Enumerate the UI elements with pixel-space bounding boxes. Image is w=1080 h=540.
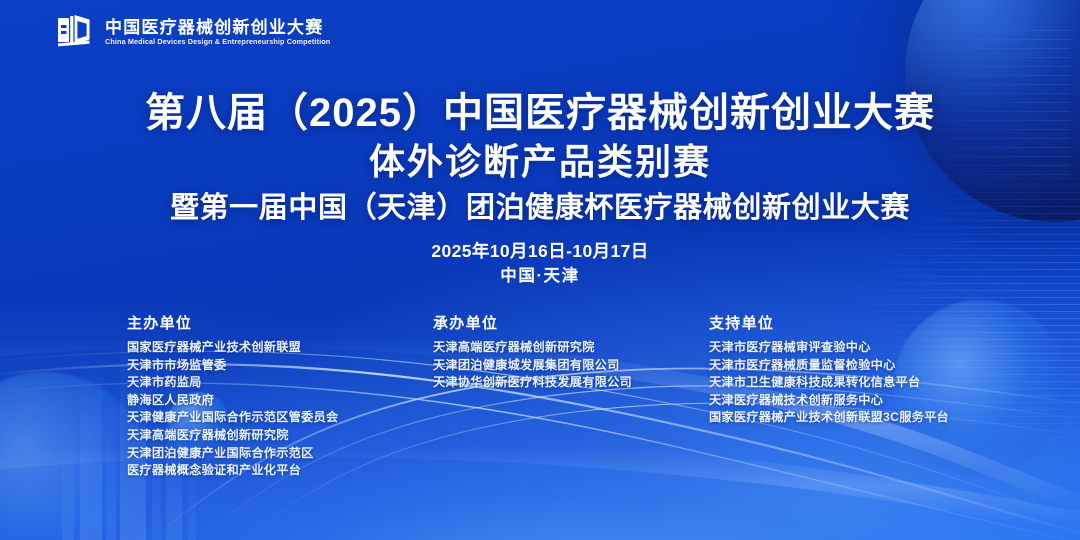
event-poster: 中国医疗器械创新创业大赛 China Medical Devices Desig… xyxy=(0,0,1080,540)
logo-text-block: 中国医疗器械创新创业大赛 China Medical Devices Desig… xyxy=(105,19,330,45)
organizer-heading: 承办单位 xyxy=(433,316,632,331)
organizer-item: 天津高端医疗器械创新研究院 xyxy=(433,339,632,357)
organizer-item: 天津市医疗器械质量监督检验中心 xyxy=(709,357,949,375)
organizer-item: 天津市医疗器械审评查验中心 xyxy=(709,339,949,357)
organizer-item: 天津协华创新医疗科技发展有限公司 xyxy=(433,374,632,392)
organizer-item: 天津高端医疗器械创新研究院 xyxy=(127,427,338,445)
title-line-1: 第八届（2025）中国医疗器械创新创业大赛 xyxy=(0,90,1080,137)
logo-english-name: China Medical Devices Design & Entrepren… xyxy=(105,38,330,45)
organizer-item: 天津医疗器械技术创新服务中心 xyxy=(709,392,949,410)
organizer-item: 天津健康产业国际合作示范区管委员会 xyxy=(127,409,338,427)
organizer-column-organizer: 承办单位 天津高端医疗器械创新研究院 天津团泊健康城发展集团有限公司 天津协华创… xyxy=(433,316,632,392)
organizer-column-host: 主办单位 国家医疗器械产业技术创新联盟 天津市市场监管委 天津市药监局 静海区人… xyxy=(127,316,338,480)
logo-chinese-name: 中国医疗器械创新创业大赛 xyxy=(105,19,330,36)
organizer-item: 国家医疗器械产业技术创新联盟3C服务平台 xyxy=(709,409,949,427)
poster-title-block: 第八届（2025）中国医疗器械创新创业大赛 体外诊断产品类别赛 暨第一届中国（天… xyxy=(0,90,1080,228)
organizer-item: 静海区人民政府 xyxy=(127,392,338,410)
organizer-item: 天津团泊健康产业国际合作示范区 xyxy=(127,445,338,463)
event-date: 2025年10月16日-10月17日 xyxy=(0,238,1080,264)
organizer-column-supporter: 支持单位 天津市医疗器械审评查验中心 天津市医疗器械质量监督检验中心 天津市卫生… xyxy=(709,316,949,427)
title-line-2: 体外诊断产品类别赛 xyxy=(0,139,1080,184)
title-line-3: 暨第一届中国（天津）团泊健康杯医疗器械创新创业大赛 xyxy=(0,190,1080,228)
open-book-logo-icon xyxy=(55,12,95,52)
organizer-heading: 支持单位 xyxy=(709,316,949,331)
organizer-item: 医疗器械概念验证和产业化平台 xyxy=(127,462,338,480)
organizer-item: 天津市市场监管委 xyxy=(127,357,338,375)
event-meta-block: 2025年10月16日-10月17日 中国·天津 xyxy=(0,238,1080,289)
organizer-heading: 主办单位 xyxy=(127,316,338,331)
organizer-columns: 主办单位 国家医疗器械产业技术创新联盟 天津市市场监管委 天津市药监局 静海区人… xyxy=(0,316,1080,516)
event-location: 中国·天津 xyxy=(0,264,1080,289)
organizer-item: 天津团泊健康城发展集团有限公司 xyxy=(433,357,632,375)
organizer-item: 天津市卫生健康科技成果转化信息平台 xyxy=(709,374,949,392)
competition-logo: 中国医疗器械创新创业大赛 China Medical Devices Desig… xyxy=(55,12,330,52)
organizer-item: 天津市药监局 xyxy=(127,374,338,392)
organizer-item: 国家医疗器械产业技术创新联盟 xyxy=(127,339,338,357)
